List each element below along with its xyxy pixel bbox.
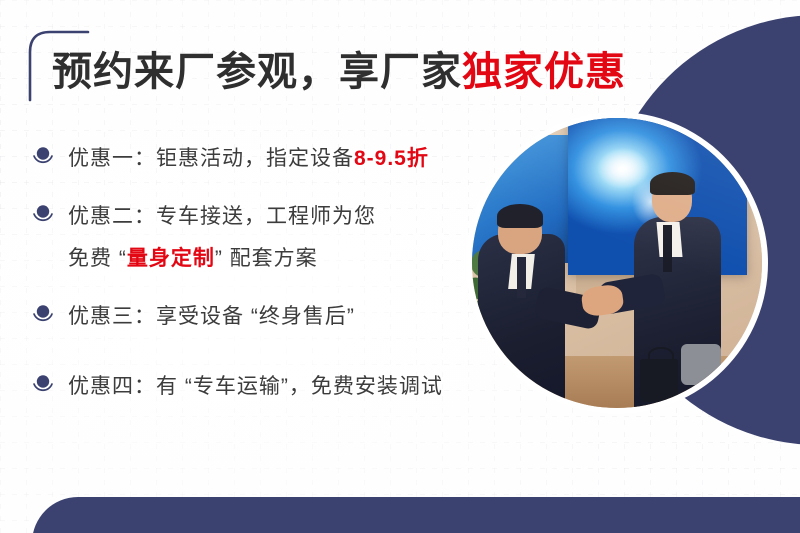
photo-person-left-hair [497,204,543,229]
navy-bottom-bar [32,497,800,533]
list-item: 优惠四：有 “专车运输”，免费安装调试 [30,366,500,408]
photo-person-left-tie [517,257,526,298]
photo-scene [472,118,762,408]
offer-2-text-line2: 免费 “量身定制” 配套方案 [30,238,500,280]
navy-dot-arc-bullet-icon [30,372,56,398]
headline-lead: 预约来厂参观，享厂家 [52,50,462,94]
headline-accent: 独家优惠 [462,50,626,94]
offer-1-text: 优惠一：钜惠活动，指定设备8-9.5折 [68,138,429,180]
handshake-photo [472,118,762,408]
photo-bag-secondary [681,344,722,385]
offer-3-text: 优惠三：享受设备 “终身售后” [68,296,355,338]
list-item: 优惠三：享受设备 “终身售后” [30,296,500,338]
navy-dot-arc-bullet-icon [30,144,56,170]
offer-list: 优惠一：钜惠活动，指定设备8-9.5折 优惠二：专车接送，工程师为您 免费 “量… [30,138,500,408]
navy-dot-arc-bullet-icon [30,202,56,228]
offer-4-text: 优惠四：有 “专车运输”，免费安装调试 [68,366,443,408]
page-title: 预约来厂参观，享厂家独家优惠 [52,48,626,96]
photo-person-right-hair [650,172,695,195]
photo-briefcase [640,359,678,403]
list-item: 优惠二：专车接送，工程师为您 [30,196,500,238]
offer-2-text-line1: 优惠二：专车接送，工程师为您 [68,196,376,238]
photo-person-right-tie [663,225,672,271]
promo-banner: 预约来厂参观，享厂家独家优惠 优惠一：钜惠活动，指定设备8-9.5折 优惠二：专… [0,0,800,533]
navy-dot-arc-bullet-icon [30,302,56,328]
handshake-photo-ring [466,112,768,414]
list-item: 优惠一：钜惠活动，指定设备8-9.5折 [30,138,500,180]
